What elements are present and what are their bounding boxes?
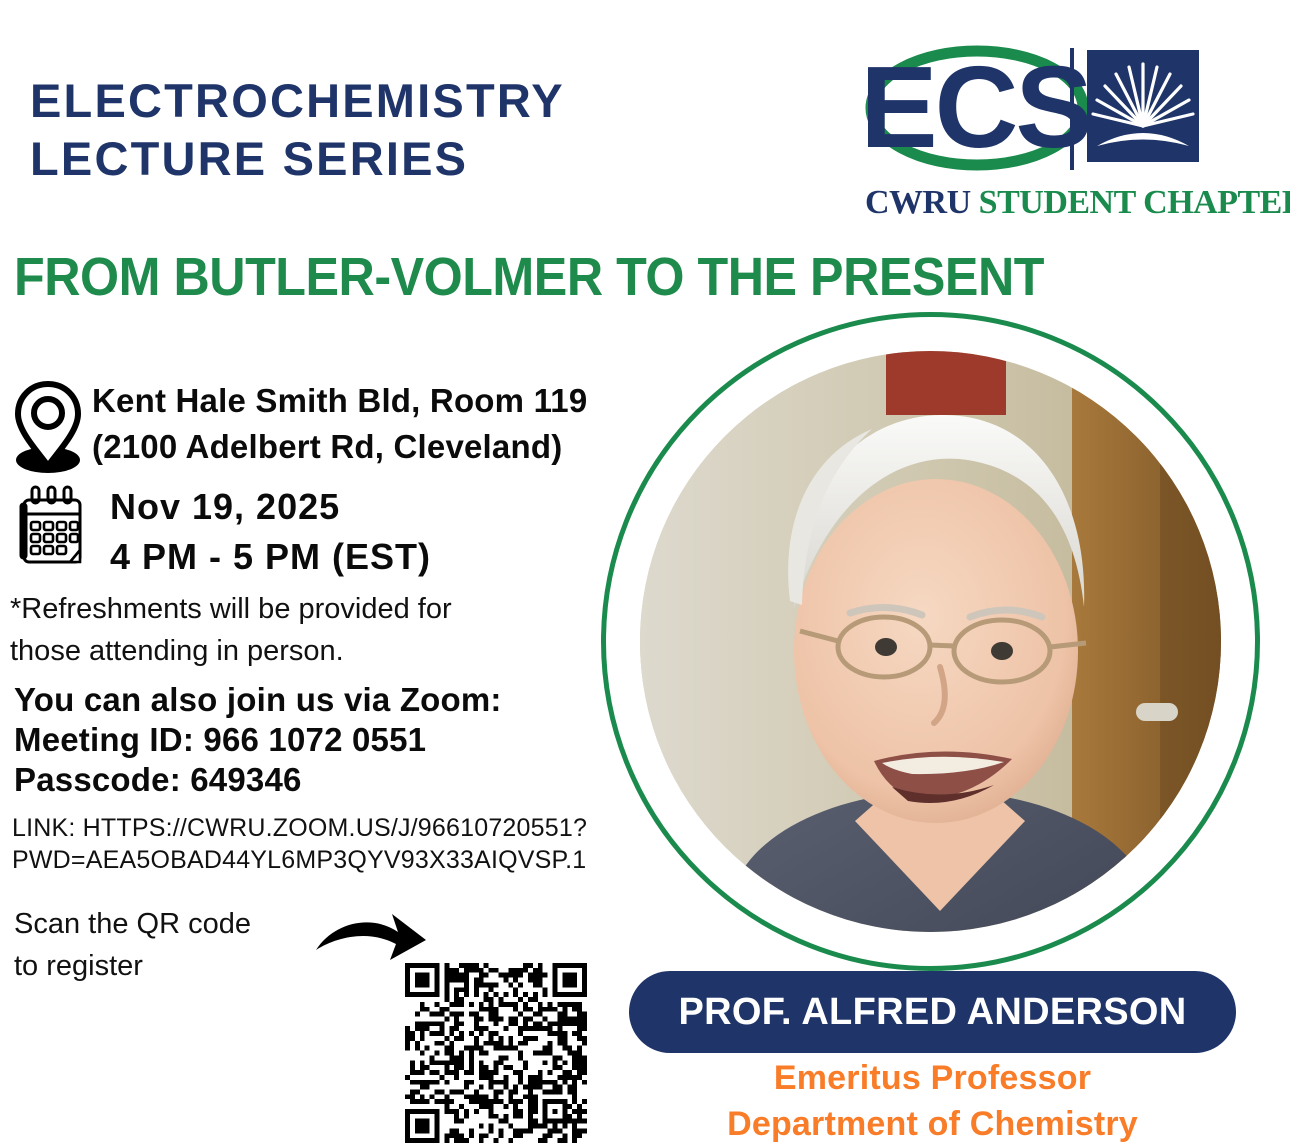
refreshments-note: *Refreshments will be provided for those…	[10, 588, 600, 672]
venue-line-1: Kent Hale Smith Bld, Room 119	[92, 378, 587, 424]
speaker-name-banner: PROF. ALFRED ANDERSON	[629, 971, 1236, 1053]
portrait-illustration	[640, 351, 1221, 932]
chapter-prefix: CWRU	[865, 184, 971, 221]
refreshments-line-2: those attending in person.	[10, 630, 600, 672]
venue-line-2: (2100 Adelbert Rd, Cleveland)	[92, 424, 587, 470]
title-line-1: ELECTROCHEMISTRY	[30, 72, 750, 130]
scan-instruction: Scan the QR code to register	[14, 903, 344, 987]
page-title: ELECTROCHEMISTRY LECTURE SERIES	[30, 72, 750, 188]
datetime-row: Nov 19, 2025 4 PM - 5 PM (EST)	[14, 482, 654, 582]
zoom-link-line-1: LINK: HTTPS://CWRU.ZOOM.US/J/96610720551…	[12, 812, 652, 844]
zoom-link-line-2: PWD=AEA5OBAD44YL6MP3QYV93X33AIQVSP.1	[12, 844, 652, 876]
lecture-headline: FROM BUTLER-VOLMER TO THE PRESENT	[14, 246, 1186, 308]
date-line: Nov 19, 2025	[110, 482, 431, 532]
zoom-meeting-id: Meeting ID: 966 1072 0551	[14, 720, 614, 760]
location-pin-icon	[12, 378, 84, 476]
ecs-mark-icon: ECS	[865, 34, 1270, 184]
qr-code-image[interactable]	[405, 963, 587, 1143]
speaker-portrait-photo	[640, 351, 1221, 932]
title-line-2: LECTURE SERIES	[30, 130, 750, 188]
ecs-chapter-label: CWRU STUDENT CHAPTER	[865, 184, 1270, 222]
scan-line-2: to register	[14, 945, 344, 987]
chapter-suffix: STUDENT CHAPTER	[979, 184, 1290, 221]
calendar-icon	[14, 482, 88, 572]
venue-row: Kent Hale Smith Bld, Room 119 (2100 Adel…	[12, 378, 692, 476]
speaker-name: PROF. ALFRED ANDERSON	[678, 991, 1186, 1034]
ecs-wordmark: ECS	[865, 42, 1090, 172]
speaker-role: Emeritus Professor Department of Chemist…	[629, 1055, 1236, 1147]
venue-text: Kent Hale Smith Bld, Room 119 (2100 Adel…	[92, 378, 587, 470]
curved-arrow-right-icon	[312, 902, 430, 964]
time-line: 4 PM - 5 PM (EST)	[110, 532, 431, 582]
speaker-role-line-1: Emeritus Professor	[629, 1055, 1236, 1101]
zoom-heading: You can also join us via Zoom:	[14, 680, 614, 720]
datetime-text: Nov 19, 2025 4 PM - 5 PM (EST)	[110, 482, 431, 582]
zoom-passcode: Passcode: 649346	[14, 760, 614, 800]
refreshments-line-1: *Refreshments will be provided for	[10, 588, 600, 630]
zoom-info: You can also join us via Zoom: Meeting I…	[14, 680, 614, 800]
ecs-logo: ECS CWRU STUDENT CHAPTER	[865, 34, 1270, 234]
scan-line-1: Scan the QR code	[14, 903, 344, 945]
zoom-link[interactable]: LINK: HTTPS://CWRU.ZOOM.US/J/96610720551…	[12, 812, 652, 876]
speaker-role-line-2: Department of Chemistry	[629, 1101, 1236, 1147]
